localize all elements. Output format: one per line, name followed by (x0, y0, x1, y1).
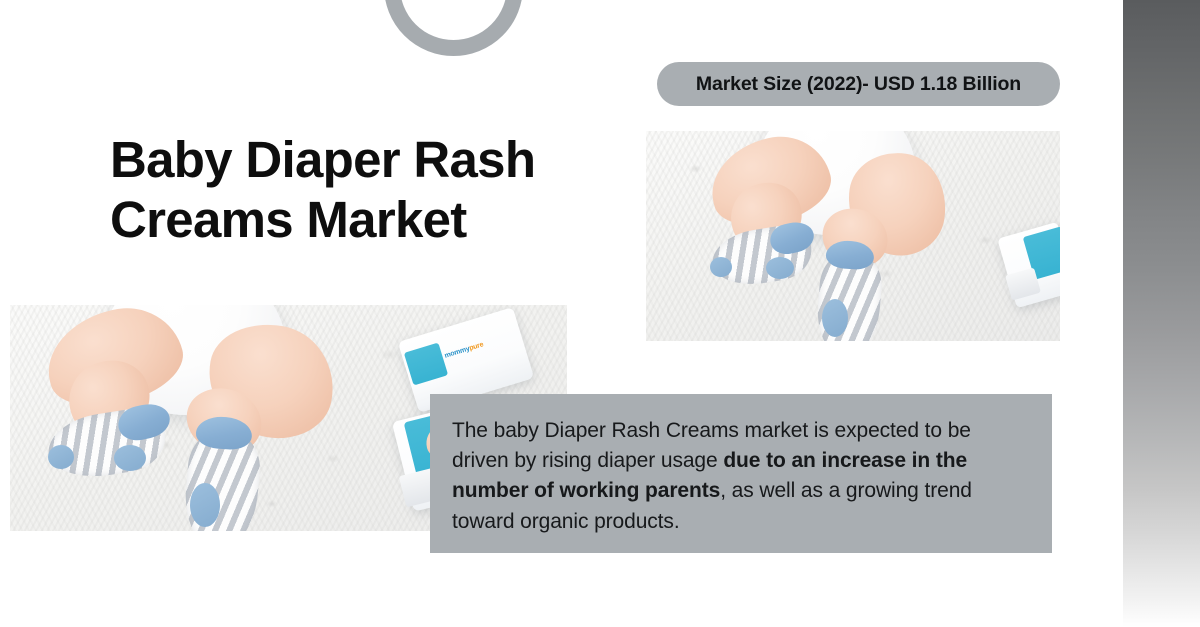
market-size-badge: Market Size (2022)- USD 1.18 Billion (657, 62, 1060, 106)
baby-sock-left-toe (48, 445, 74, 469)
market-size-badge-label: Market Size (2022)- USD 1.18 Billion (696, 73, 1021, 96)
page-title: Baby Diaper Rash Creams Market (110, 130, 670, 249)
baby-sock-left-heel (766, 257, 794, 279)
right-edge-gradient-strip (1123, 0, 1200, 627)
baby-sock-right-heel (822, 299, 848, 337)
baby-sock-left-toe (710, 257, 732, 277)
baby-sock-left-heel (114, 445, 146, 471)
circle-outline-shape (384, 0, 523, 56)
photo-baby-legs-socks-top-right (646, 131, 1060, 341)
infographic-canvas: Baby Diaper Rash Creams Market Market Si… (0, 0, 1200, 627)
baby-sock-right-heel (190, 483, 220, 527)
market-summary-panel: The baby Diaper Rash Creams market is ex… (430, 394, 1052, 553)
market-summary-text: The baby Diaper Rash Creams market is ex… (452, 416, 1022, 537)
